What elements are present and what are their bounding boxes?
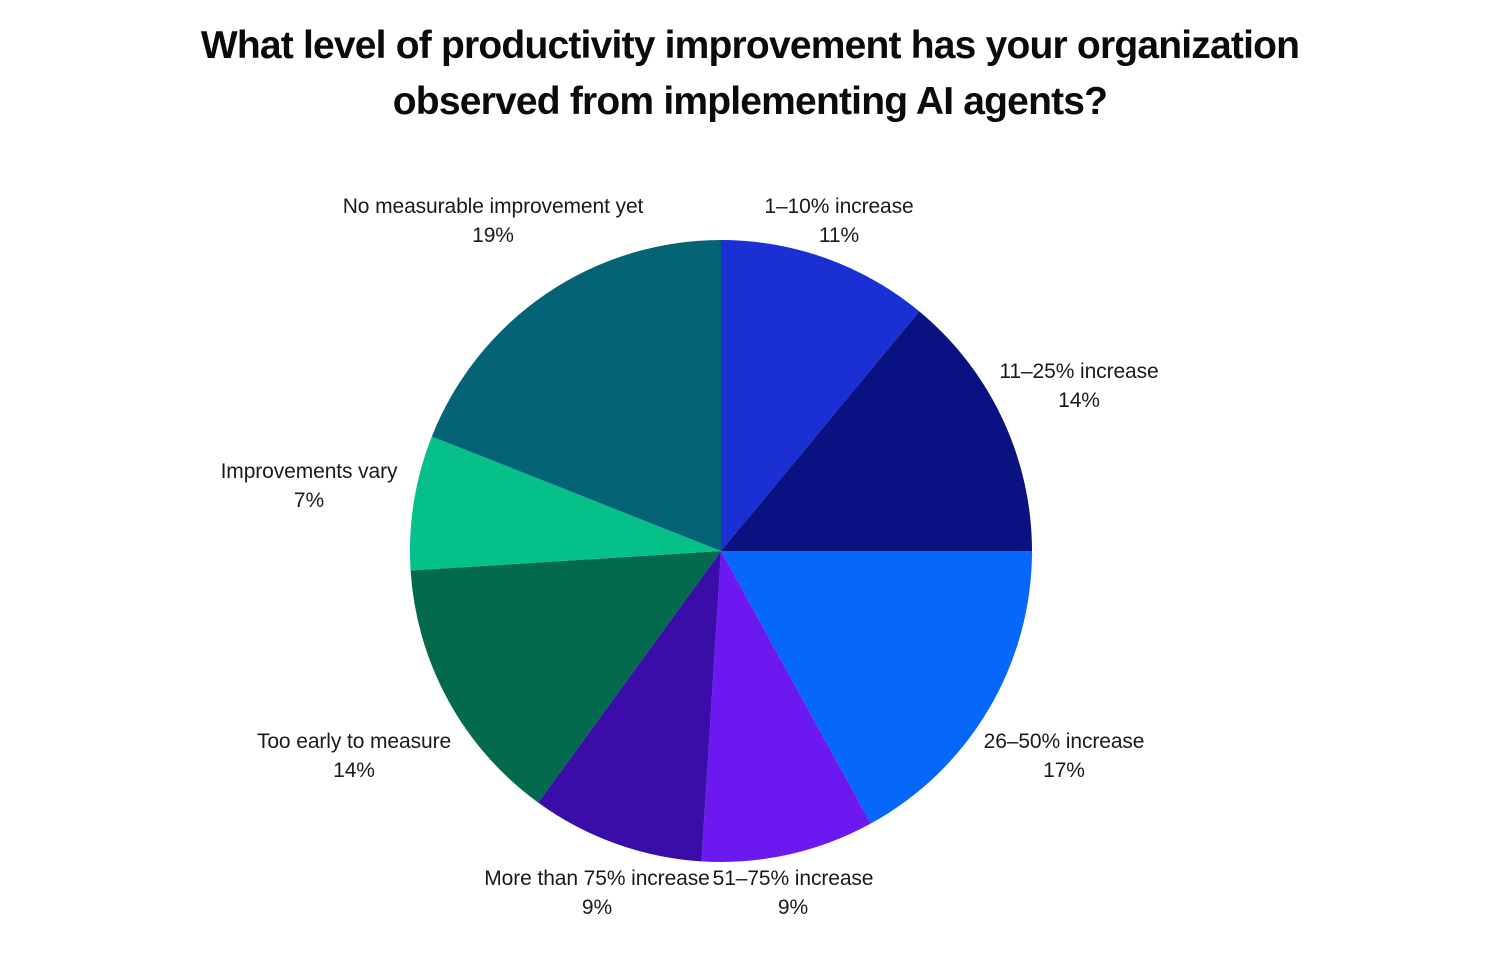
pie-label-improvements-vary: Improvements vary 7% — [221, 457, 398, 515]
pie-slice-group — [410, 240, 1032, 862]
pie-label-value: 19% — [343, 221, 644, 250]
pie-label-value: 11% — [764, 221, 913, 250]
pie-label-name: More than 75% increase — [484, 864, 709, 893]
pie-label-value: 9% — [713, 893, 874, 922]
pie-label-no-measurable-improvement-yet: No measurable improvement yet 19% — [343, 192, 644, 250]
pie-label-name: Too early to measure — [257, 727, 451, 756]
pie-label-51-75-increase: 51–75% increase 9% — [713, 864, 874, 922]
pie-label-more-than-75-increase: More than 75% increase 9% — [484, 864, 709, 922]
pie-label-name: 11–25% increase — [999, 357, 1158, 386]
pie-label-value: 7% — [221, 486, 398, 515]
pie-label-name: 26–50% increase — [984, 727, 1145, 756]
pie-label-name: Improvements vary — [221, 457, 398, 486]
pie-label-value: 17% — [984, 756, 1145, 785]
pie-label-1-10-increase: 1–10% increase 11% — [764, 192, 913, 250]
pie-label-26-50-increase: 26–50% increase 17% — [984, 727, 1145, 785]
pie-label-value: 9% — [484, 893, 709, 922]
pie-label-11-25-increase: 11–25% increase 14% — [999, 357, 1158, 415]
pie-label-name: 1–10% increase — [764, 192, 913, 221]
pie-label-name: 51–75% increase — [713, 864, 874, 893]
pie-label-too-early-to-measure: Too early to measure 14% — [257, 727, 451, 785]
pie-label-value: 14% — [999, 386, 1158, 415]
pie-label-name: No measurable improvement yet — [343, 192, 644, 221]
pie-label-value: 14% — [257, 756, 451, 785]
pie-chart: No measurable improvement yet 19% 1–10% … — [0, 0, 1500, 956]
